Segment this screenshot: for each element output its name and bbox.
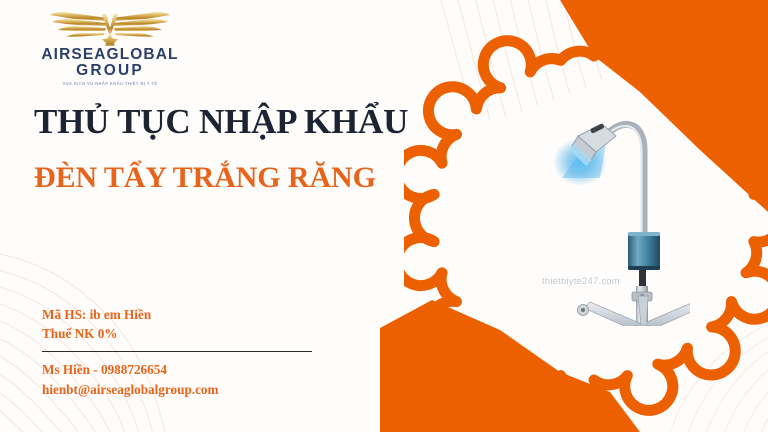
content-column: AIRSEAGLOBAL GROUP VUA DỊCH VỤ NHẬP KHẨU…: [0, 0, 430, 432]
page-title: THỦ TỤC NHẬP KHẨU: [34, 104, 408, 139]
hs-code-line: Mã HS: ib em Hiền: [42, 305, 342, 324]
lamp-control-module: [628, 232, 660, 270]
tax-line: Thuế NK 0%: [42, 324, 342, 343]
teeth-whitening-lamp-image: [540, 96, 690, 326]
product-showcase: thietbiyte247.com: [430, 0, 768, 432]
brand-logo: AIRSEAGLOBAL GROUP VUA DỊCH VỤ NHẬP KHẨU…: [40, 6, 180, 86]
contact-email-line: hienbt@airseaglobalgroup.com: [42, 380, 342, 400]
info-block: Mã HS: ib em Hiền Thuế NK 0% Ms Hiền - 0…: [42, 305, 342, 400]
logo-name-line2: GROUP: [40, 63, 180, 79]
logo-tagline: VUA DỊCH VỤ NHẬP KHẨU THIẾT BỊ Y TẾ: [40, 81, 180, 86]
logo-wordmark: AIRSEAGLOBAL GROUP: [40, 47, 180, 79]
poster-canvas: thietbiyte247.com: [0, 0, 768, 432]
contact-person-line: Ms Hiền - 0988726654: [42, 360, 342, 380]
winged-star-emblem-icon: [46, 6, 174, 46]
logo-name-line1: AIRSEAGLOBAL: [41, 46, 178, 63]
divider: [42, 351, 312, 352]
page-subtitle: ĐÈN TẨY TRẮNG RĂNG: [34, 163, 376, 193]
